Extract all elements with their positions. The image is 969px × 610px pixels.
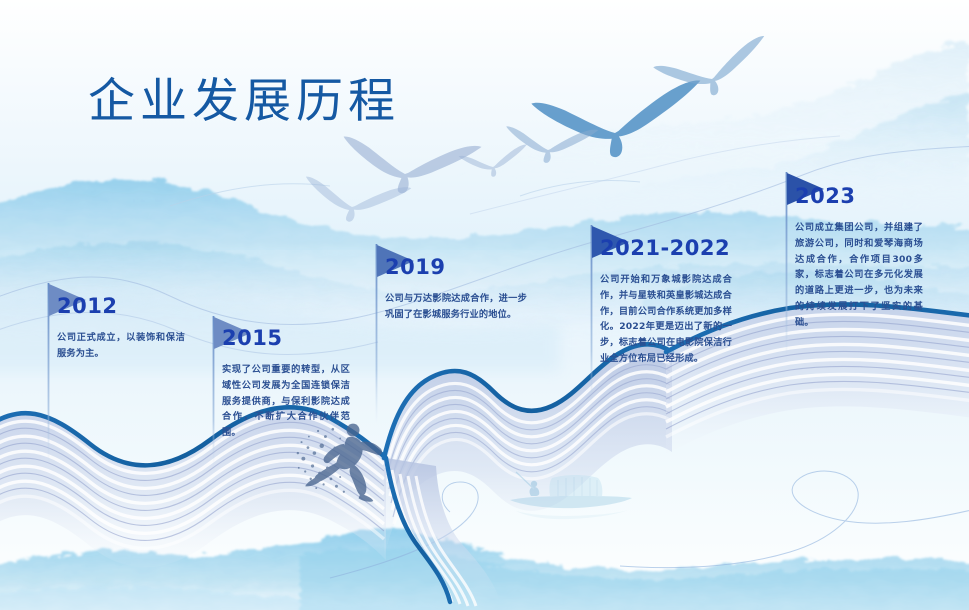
milestone-description: 公司成立集团公司，并组建了旅游公司，同时和爱琴海商场达成合作，合作项目300多家… — [795, 220, 923, 331]
milestone-2019: 2019 公司与万达影院达成合作，进一步巩固了在影城服务行业的地位。 — [385, 257, 531, 323]
milestone-description: 公司开始和万象城影院达成合作，并与星轶和英皇影城达成合作，目前公司合作系统更加多… — [600, 272, 732, 367]
milestone-year: 2015 — [222, 328, 350, 349]
milestone-year: 2012 — [57, 296, 185, 317]
milestone-year: 2019 — [385, 257, 531, 278]
timeline-poster: 企业发展历程 2012 公司正式成立，以装饰和保洁服务为主。 2015 实现了公… — [0, 0, 969, 610]
milestone-2021-2022: 2021-2022 公司开始和万象城影院达成合作，并与星轶和英皇影城达成合作，目… — [600, 238, 732, 367]
milestone-year: 2023 — [795, 186, 923, 207]
milestone-description: 公司正式成立，以装饰和保洁服务为主。 — [57, 330, 185, 362]
milestone-description: 公司与万达影院达成合作，进一步巩固了在影城服务行业的地位。 — [385, 291, 527, 323]
milestone-2015: 2015 实现了公司重要的转型，从区域性公司发展为全国连锁保洁服务提供商，与保利… — [222, 328, 350, 441]
milestone-2023: 2023 公司成立集团公司，并组建了旅游公司，同时和爱琴海商场达成合作，合作项目… — [795, 186, 923, 331]
milestone-description: 实现了公司重要的转型，从区域性公司发展为全国连锁保洁服务提供商，与保利影院达成合… — [222, 362, 350, 441]
milestone-2012: 2012 公司正式成立，以装饰和保洁服务为主。 — [57, 296, 185, 362]
page-title: 企业发展历程 — [88, 62, 400, 131]
milestone-year: 2021-2022 — [600, 238, 732, 259]
